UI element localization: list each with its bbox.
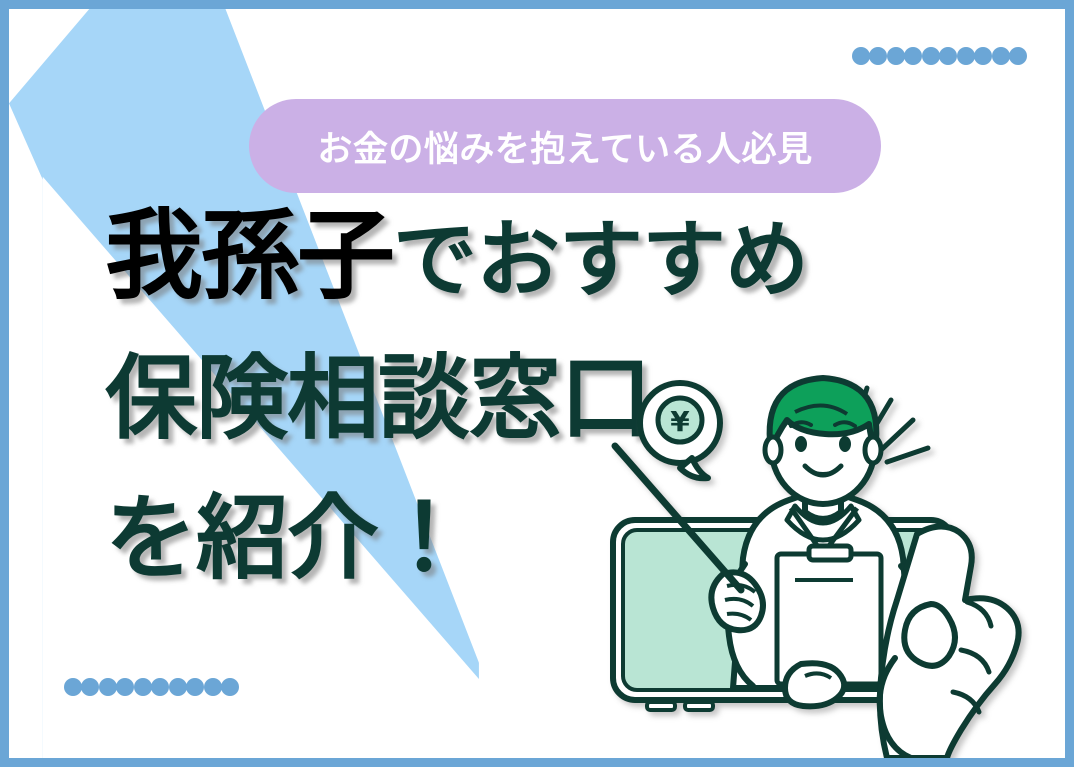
dot	[904, 47, 922, 65]
dot	[204, 678, 222, 696]
dot	[939, 47, 957, 65]
dot	[221, 678, 239, 696]
dot	[974, 47, 992, 65]
dot	[852, 47, 870, 65]
headline-line-3-text: を紹介！	[105, 485, 469, 592]
yen-symbol: ¥	[670, 405, 690, 438]
decorative-dots-top-right	[852, 47, 1027, 82]
resting-hand	[785, 663, 844, 706]
dot	[869, 47, 887, 65]
dot	[64, 678, 82, 696]
catch-copy-badge: お金の悩みを抱えている人必見	[249, 99, 881, 193]
dot	[134, 678, 152, 696]
dot	[81, 678, 99, 696]
dot	[116, 678, 134, 696]
headline-line-1-suffix: でおすすめ	[393, 211, 808, 309]
dot	[151, 678, 169, 696]
dot	[922, 47, 940, 65]
headline-location: 我孫子	[105, 199, 393, 313]
dot	[186, 678, 204, 696]
dot	[957, 47, 975, 65]
illustration-svg: ¥	[595, 358, 1065, 758]
dot	[1009, 47, 1027, 65]
decorative-dots-bottom-left	[64, 678, 239, 713]
illustration-consultant-on-phone: ¥	[595, 358, 1065, 758]
headline-line-1: 我孫子でおすすめ	[105, 207, 925, 305]
dot-row	[869, 47, 904, 82]
promo-banner: お金の悩みを抱えている人必見 我孫子でおすすめ 保険相談窓口 を紹介！	[0, 0, 1074, 767]
dot	[992, 47, 1010, 65]
catch-copy-text: お金の悩みを抱えている人必見	[317, 121, 812, 172]
dot-row	[81, 678, 116, 713]
dot	[169, 678, 187, 696]
banner-canvas: お金の悩みを抱えている人必見 我孫子でおすすめ 保険相談窓口 を紹介！	[9, 9, 1065, 758]
head	[765, 378, 881, 504]
illustration-group: ¥	[613, 378, 1019, 758]
yen-speech-bubble-icon: ¥	[640, 383, 720, 478]
headline-line-2-text: 保険相談窓口	[105, 345, 651, 452]
